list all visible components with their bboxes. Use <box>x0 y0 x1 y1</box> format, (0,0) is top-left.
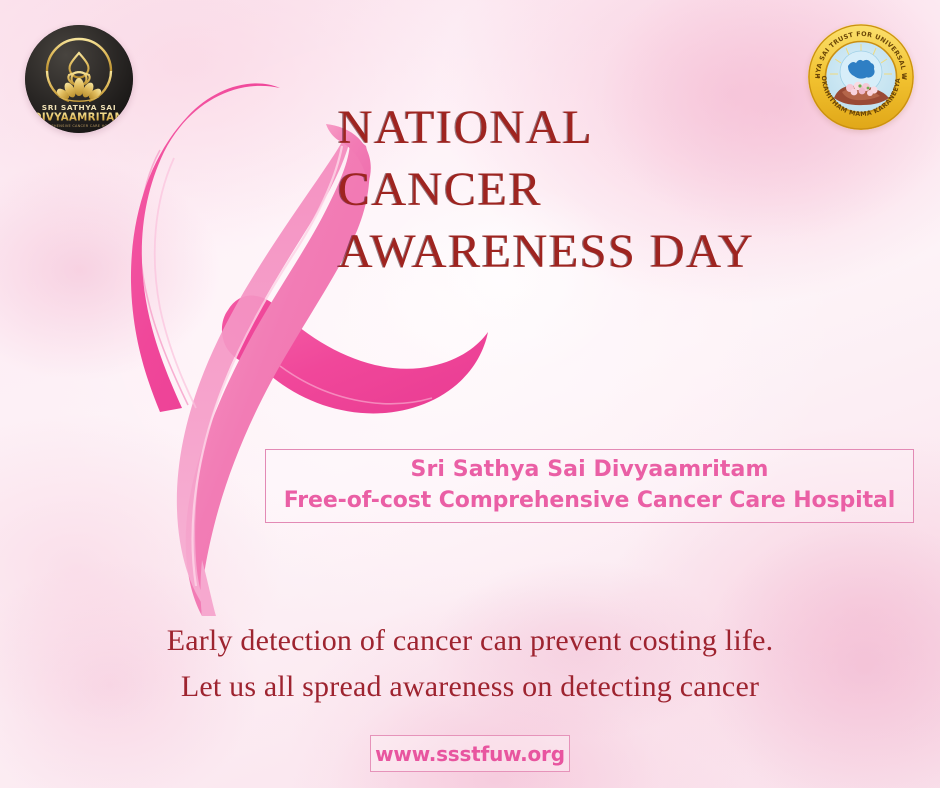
title-line-1: NATIONAL <box>338 97 898 159</box>
title-line-3: AWARENESS DAY <box>338 221 898 283</box>
logo-left-line1: SRI SATHYA SAI <box>42 103 117 112</box>
page-title: NATIONAL CANCER AWARENESS DAY <box>338 97 898 283</box>
title-line-2: CANCER <box>338 159 898 221</box>
poster-canvas: SRI SATHYA SAI DIVYAAMRITAM COMPREHENSIV… <box>0 0 940 788</box>
logo-left-line2: DIVYAAMRITAM <box>33 113 125 124</box>
divyaamritam-logo: SRI SATHYA SAI DIVYAAMRITAM COMPREHENSIV… <box>25 25 133 133</box>
hospital-name-box: Sri Sathya Sai Divyaamritam Free-of-cost… <box>265 449 914 523</box>
tagline-line-2: Let us all spread awareness on detecting… <box>0 664 940 710</box>
tagline-block: Early detection of cancer can prevent co… <box>0 618 940 710</box>
website-box[interactable]: www.ssstfuw.org <box>370 735 570 772</box>
hospital-name-line-1: Sri Sathya Sai Divyaamritam <box>411 455 769 485</box>
hospital-name-line-2: Free-of-cost Comprehensive Cancer Care H… <box>284 485 895 517</box>
logo-left-line3: COMPREHENSIVE CANCER CARE HOSPITAL <box>37 124 120 128</box>
tagline-line-1: Early detection of cancer can prevent co… <box>0 618 940 664</box>
website-url[interactable]: www.ssstfuw.org <box>375 742 565 766</box>
